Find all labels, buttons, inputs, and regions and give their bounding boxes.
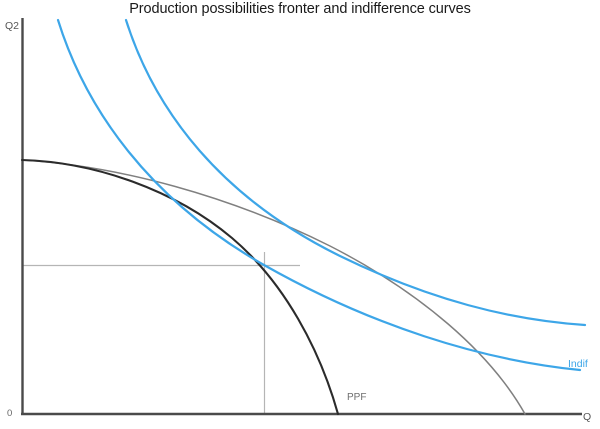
chart-canvas: Production possibilities fronter and ind…	[0, 0, 600, 429]
ppf-curve	[22, 160, 338, 414]
ppf-curve-label: PPF	[347, 392, 366, 403]
outer-transformation-curve	[22, 160, 525, 414]
chart-plot-area	[0, 0, 600, 429]
x-axis-label: Q	[583, 411, 591, 423]
indifference-curve-lower	[58, 20, 580, 370]
y-axis-label: Q2	[5, 20, 19, 32]
origin-label: 0	[7, 408, 12, 419]
indifference-curve-label: Indif	[568, 358, 588, 370]
indifference-curve-upper	[126, 20, 585, 325]
